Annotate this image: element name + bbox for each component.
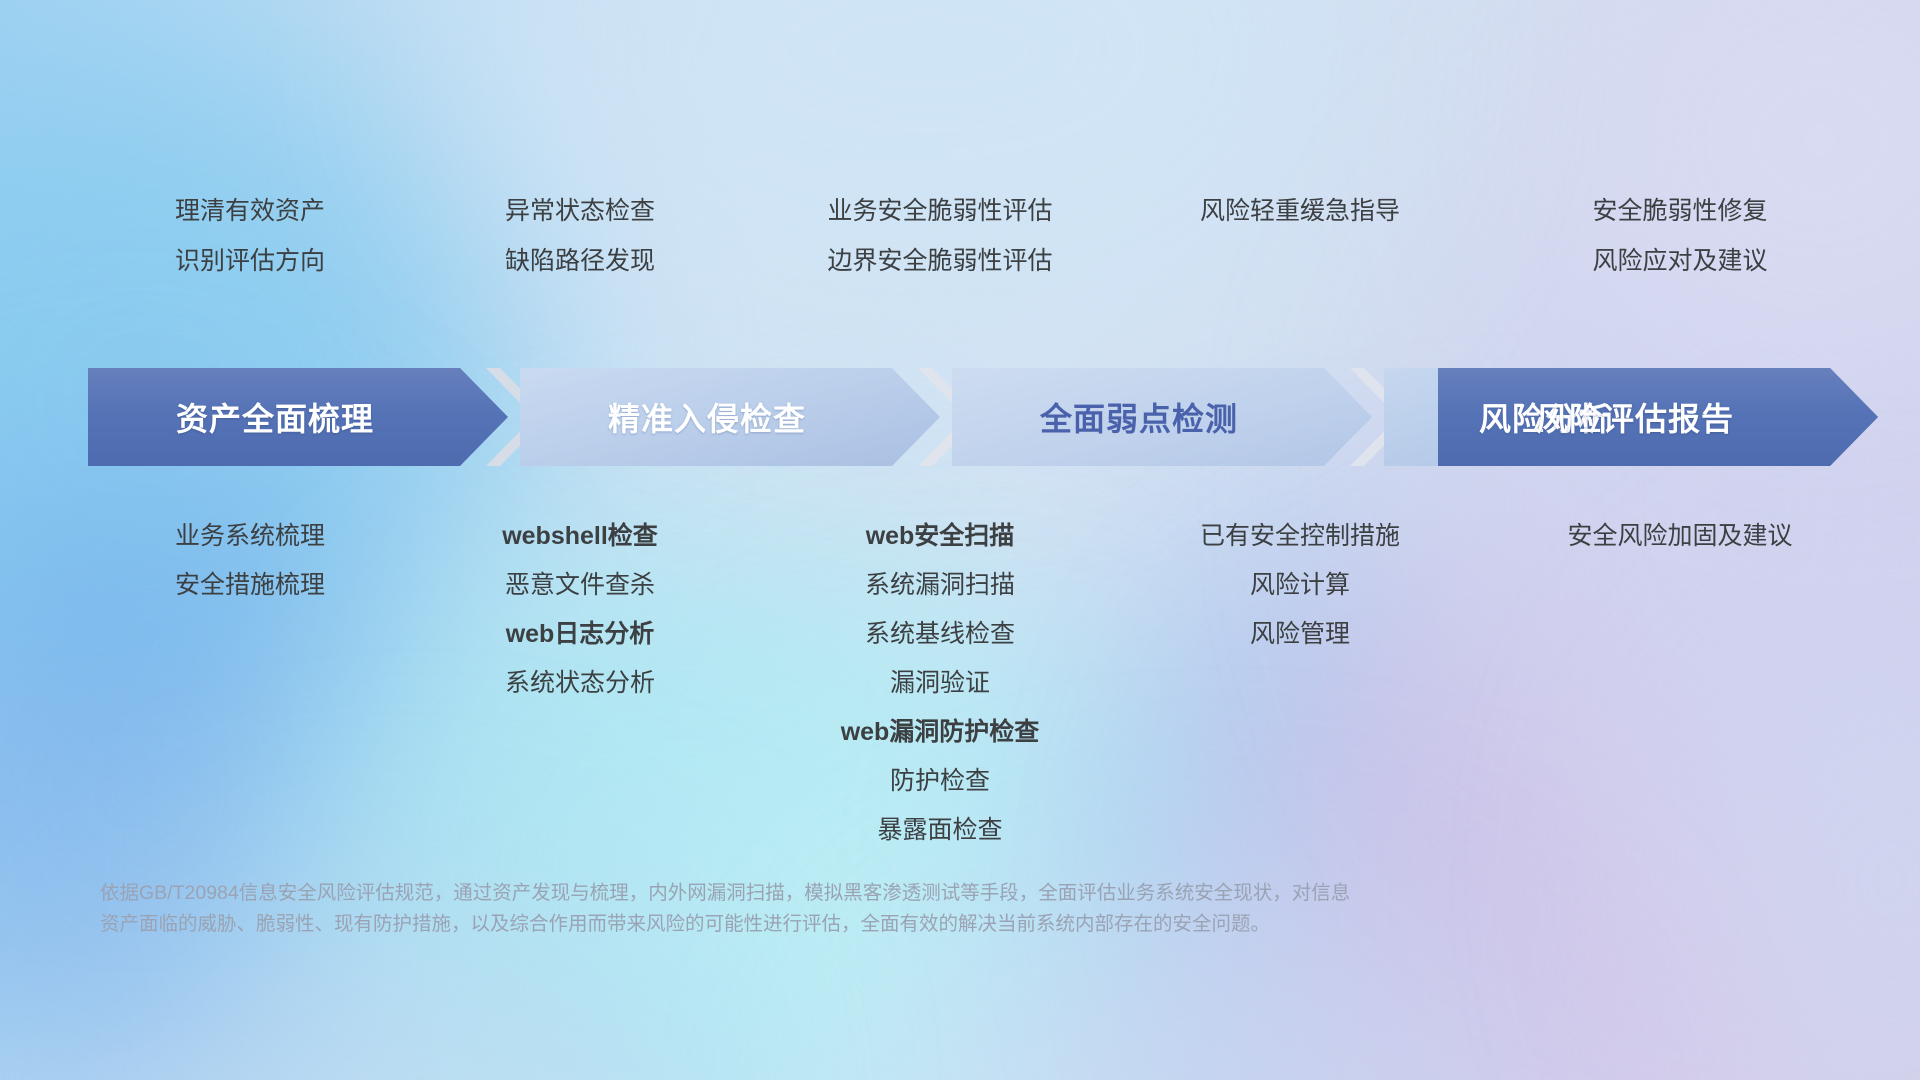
bottom-column-3-item-4: 漏洞验证 bbox=[720, 659, 1160, 708]
bottom-column-5: 安全风险加固及建议 bbox=[1460, 512, 1900, 561]
bottom-column-3-item-5: web漏洞防护检查 bbox=[720, 708, 1160, 757]
top-column-3-line-2: 边界安全脆弱性评估 bbox=[720, 236, 1160, 286]
bottom-column-4-item-3: 风险管理 bbox=[1080, 610, 1520, 659]
top-column-5-line-1: 安全脆弱性修复 bbox=[1460, 186, 1900, 236]
stage-arrow-3[interactable]: 全面弱点检测 bbox=[952, 368, 1372, 466]
stage-2-label: 精准入侵检查 bbox=[608, 394, 806, 440]
stage-3-label: 全面弱点检测 bbox=[1040, 394, 1238, 440]
bottom-column-4: 已有安全控制措施 风险计算 风险管理 bbox=[1080, 512, 1520, 659]
top-column-4-line-1: 风险轻重缓急指导 bbox=[1080, 186, 1520, 236]
bottom-column-3-item-7: 暴露面检查 bbox=[720, 806, 1160, 855]
stage-arrow-1[interactable]: 资产全面梳理 bbox=[88, 368, 508, 466]
top-feature-row: 理清有效资产 识别评估方向 异常状态检查 缺陷路径发现 业务安全脆弱性评估 边界… bbox=[0, 186, 1920, 326]
stage-1-label: 资产全面梳理 bbox=[176, 394, 374, 440]
bottom-column-3-item-6: 防护检查 bbox=[720, 757, 1160, 806]
bottom-column-5-item-1: 安全风险加固及建议 bbox=[1460, 512, 1900, 561]
process-arrow-banner: 资产全面梳理 精准入侵检查 全面弱点检测 bbox=[88, 368, 1878, 466]
top-column-5-line-2: 风险应对及建议 bbox=[1460, 236, 1900, 286]
footer-line-1: 依据GB/T20984信息安全风险评估规范，通过资产发现与梳理，内外网漏洞扫描，… bbox=[100, 878, 1620, 909]
footer-line-2: 资产面临的威胁、脆弱性、现有防护措施，以及综合作用而带来风险的可能性进行评估，全… bbox=[100, 909, 1620, 940]
bottom-column-4-item-2: 风险计算 bbox=[1080, 561, 1520, 610]
top-column-4: 风险轻重缓急指导 bbox=[1080, 186, 1520, 236]
stage-arrow-2[interactable]: 精准入侵检查 bbox=[520, 368, 940, 466]
bottom-column-4-item-1: 已有安全控制措施 bbox=[1080, 512, 1520, 561]
stage-5-label: 风险评估报告 bbox=[1536, 394, 1734, 440]
footer-description: 依据GB/T20984信息安全风险评估规范，通过资产发现与梳理，内外网漏洞扫描，… bbox=[100, 878, 1620, 940]
top-column-5: 安全脆弱性修复 风险应对及建议 bbox=[1460, 186, 1900, 286]
